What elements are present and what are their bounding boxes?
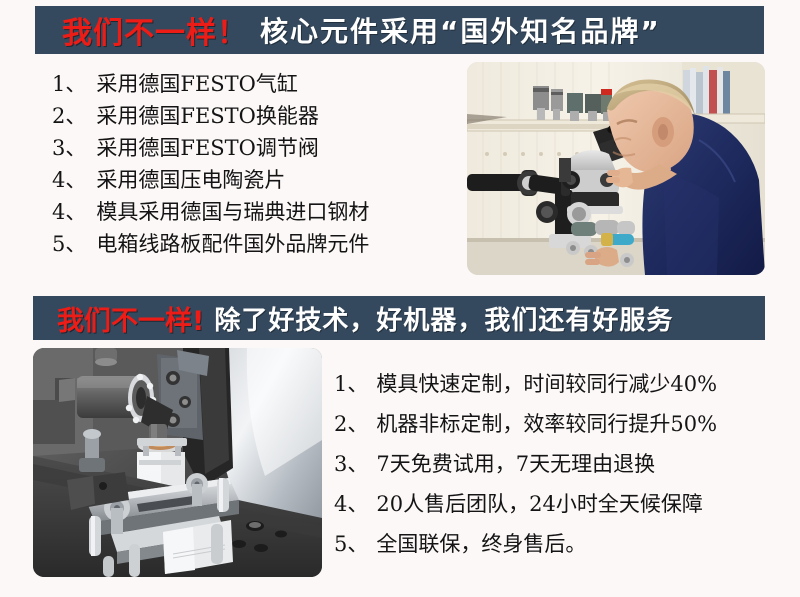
list-item-number: 5、 — [334, 524, 368, 564]
list-item-number: 4、 — [334, 484, 368, 524]
list-item-text: 20人售后团队，24小时全天候保障 — [376, 484, 702, 524]
list-item-number: 1、 — [334, 364, 368, 404]
list-item-text: 全国联保，终身售后。 — [376, 524, 586, 564]
machine-tooling-photo — [33, 348, 322, 577]
list-item: 2、 采用德国FESTO换能器 — [52, 100, 452, 132]
list-item: 5、 电箱线路板配件国外品牌元件 — [52, 228, 452, 260]
list-item-text: 机器非标定制，效率较同行提升50% — [376, 404, 717, 444]
list-item-number: 4、 — [52, 164, 86, 196]
machine-photo-graphic — [33, 348, 322, 577]
list-item-number: 3、 — [52, 132, 86, 164]
banner-accent-text: 我们不一样! — [57, 299, 204, 338]
list-item-text: 电箱线路板配件国外品牌元件 — [96, 228, 369, 260]
list-item: 1、 采用德国FESTO气缸 — [52, 68, 452, 100]
list-item-number: 4、 — [52, 196, 86, 228]
list-item: 3、 采用德国FESTO调节阀 — [52, 132, 452, 164]
list-item-text: 模具快速定制，时间较同行减少40% — [376, 364, 717, 404]
section-two-banner: 我们不一样! 除了好技术，好机器，我们还有好服务 — [33, 296, 765, 340]
list-item-text: 采用德国压电陶瓷片 — [96, 164, 285, 196]
list-item-number: 3、 — [334, 444, 368, 484]
list-item: 1、 模具快速定制，时间较同行减少40% — [334, 364, 794, 404]
banner-main-text: 除了好技术，好机器，我们还有好服务 — [214, 300, 673, 337]
section-one-banner: 我们不一样！ 核心元件采用“国外知名品牌” — [35, 6, 764, 54]
section-one-feature-list: 1、 采用德国FESTO气缸 2、 采用德国FESTO换能器 3、 采用德国FE… — [52, 68, 452, 260]
list-item: 4、 采用德国压电陶瓷片 — [52, 164, 452, 196]
list-item: 2、 机器非标定制，效率较同行提升50% — [334, 404, 794, 444]
list-item-number: 5、 — [52, 228, 86, 260]
banner-main-text: 核心元件采用“国外知名品牌” — [260, 10, 661, 50]
list-item-text: 采用德国FESTO换能器 — [96, 100, 319, 132]
microscope-photo-graphic — [467, 62, 765, 275]
list-item-number: 1、 — [52, 68, 86, 100]
list-item-text: 采用德国FESTO调节阀 — [96, 132, 319, 164]
list-item: 3、 7天免费试用，7天无理由退换 — [334, 444, 794, 484]
banner-accent-text: 我们不一样！ — [62, 8, 248, 52]
list-item-number: 2、 — [334, 404, 368, 444]
list-item-number: 2、 — [52, 100, 86, 132]
microscope-inspection-photo — [467, 62, 765, 275]
list-item: 4、 模具采用德国与瑞典进口钢材 — [52, 196, 452, 228]
list-item: 4、 20人售后团队，24小时全天候保障 — [334, 484, 794, 524]
list-item: 5、 全国联保，终身售后。 — [334, 524, 794, 564]
promo-page: 我们不一样！ 核心元件采用“国外知名品牌” 1、 采用德国FESTO气缸 2、 … — [0, 0, 800, 597]
list-item-text: 模具采用德国与瑞典进口钢材 — [96, 196, 369, 228]
list-item-text: 采用德国FESTO气缸 — [96, 68, 298, 100]
section-two-service-list: 1、 模具快速定制，时间较同行减少40% 2、 机器非标定制，效率较同行提升50… — [334, 364, 794, 564]
list-item-text: 7天免费试用，7天无理由退换 — [376, 444, 655, 484]
